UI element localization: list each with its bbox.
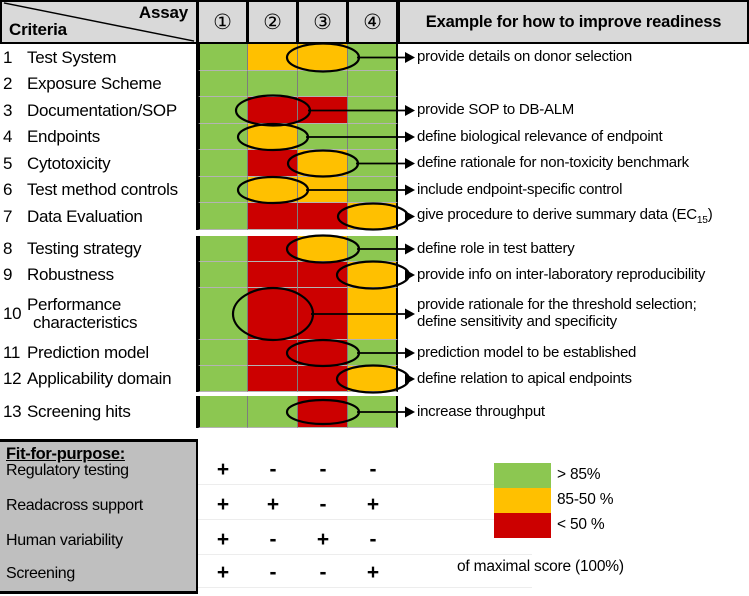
score-cell-r2-c3 [298, 71, 348, 97]
ffp-mark-r3-c3: + [298, 529, 348, 550]
score-cell-r13-c4 [348, 396, 398, 428]
criteria-cell-10: 10Performancecharacteristics [0, 288, 198, 340]
legend-swatch-orange [494, 488, 551, 513]
score-cell-r1-c3 [298, 44, 348, 71]
criteria-number: 4 [0, 127, 27, 147]
criteria-label: Test System [27, 49, 116, 67]
score-cell-r12-c3 [298, 366, 348, 392]
score-cell-r7-c3 [298, 203, 348, 230]
criteria-cell-8: 8Testing strategy [0, 236, 198, 262]
score-cell-r2-c1 [198, 71, 248, 97]
ffp-mark-r2-c3: - [298, 494, 348, 515]
criteria-cell-1: 1Test System [0, 44, 198, 71]
ffp-mark-r3-c4: - [348, 529, 398, 550]
ffp-separator-4 [198, 587, 532, 588]
score-cell-r5-c3 [298, 150, 348, 177]
score-cell-r8-c4 [348, 236, 398, 262]
score-cell-r4-c2 [248, 124, 298, 150]
score-cell-r10-c1 [198, 288, 248, 340]
example-cell-11: prediction model to be established [398, 340, 749, 366]
ffp-mark-r3-c2: - [248, 529, 298, 550]
criteria-label: Testing strategy [27, 240, 141, 258]
example-cell-5: define rationale for non-toxicity benchm… [398, 150, 749, 177]
example-cell-1: provide details on donor selection [398, 44, 749, 71]
score-cell-r11-c4 [348, 340, 398, 366]
legend-footer: of maximal score (100%) [457, 558, 624, 576]
ffp-row-label-1: Regulatory testing [6, 462, 129, 480]
score-cell-r6-c1 [198, 177, 248, 203]
ffp-separator-2 [198, 519, 532, 520]
score-cell-r9-c4 [348, 262, 398, 288]
criteria-cell-2: 2Exposure Scheme [0, 71, 198, 97]
example-cell-4: define biological relevance of endpoint [398, 124, 749, 150]
score-cell-r9-c3 [298, 262, 348, 288]
criteria-label: Screening hits [27, 403, 131, 421]
criteria-label: Performancecharacteristics [27, 296, 137, 332]
score-cell-r11-c2 [248, 340, 298, 366]
criteria-number: 8 [0, 239, 27, 259]
score-cell-r8-c2 [248, 236, 298, 262]
legend-label-green: > 85% [557, 466, 600, 484]
ffp-mark-r4-c4: + [348, 562, 398, 583]
legend-label-red: < 50 % [557, 516, 605, 534]
criteria-number: 2 [0, 74, 27, 94]
criteria-label: Documentation/SOP [27, 102, 177, 120]
score-cell-r4-c4 [348, 124, 398, 150]
criteria-number: 12 [0, 369, 27, 389]
score-cell-r13-c1 [198, 396, 248, 428]
criteria-label: Test method controls [27, 181, 178, 199]
score-cell-r4-c3 [298, 124, 348, 150]
criteria-number: 11 [0, 343, 27, 363]
ffp-mark-r3-c1: + [198, 529, 248, 550]
score-cell-r3-c3 [298, 97, 348, 124]
score-cell-r11-c3 [298, 340, 348, 366]
criteria-cell-12: 12Applicability domain [0, 366, 198, 392]
ffp-mark-r1-c1: + [198, 459, 248, 480]
ffp-mark-r4-c3: - [298, 562, 348, 583]
legend-label-orange: 85-50 % [557, 491, 613, 509]
criteria-cell-9: 9Robustness [0, 262, 198, 288]
criteria-label: Data Evaluation [27, 208, 143, 226]
score-cell-r6-c4 [348, 177, 398, 203]
score-cell-r9-c1 [198, 262, 248, 288]
criteria-number: 10 [0, 304, 27, 324]
criteria-label: Exposure Scheme [27, 75, 161, 93]
ffp-row-label-3: Human variability [6, 532, 123, 550]
score-cell-r1-c2 [248, 44, 298, 71]
criteria-label: Endpoints [27, 128, 100, 146]
criteria-number: 13 [0, 402, 27, 422]
legend-swatch-green [494, 463, 551, 488]
score-cell-r9-c2 [248, 262, 298, 288]
score-cell-r1-c1 [198, 44, 248, 71]
example-cell-8: define role in test battery [398, 236, 749, 262]
criteria-cell-5: 5Cytotoxicity [0, 150, 198, 177]
score-cell-r10-c4 [348, 288, 398, 340]
criteria-cell-11: 11Prediction model [0, 340, 198, 366]
score-cell-r1-c4 [348, 44, 398, 71]
ffp-separator-1 [198, 484, 532, 485]
criteria-number: 9 [0, 265, 27, 285]
criteria-label: Prediction model [27, 344, 149, 362]
ffp-mark-r1-c3: - [298, 459, 348, 480]
example-cell-12: define relation to apical endpoints [398, 366, 749, 392]
score-cell-r10-c2 [248, 288, 298, 340]
ffp-mark-r1-c4: - [348, 459, 398, 480]
ffp-mark-r4-c1: + [198, 562, 248, 583]
criteria-number: 7 [0, 207, 27, 227]
criteria-cell-4: 4Endpoints [0, 124, 198, 150]
score-cell-r5-c4 [348, 150, 398, 177]
score-cell-r3-c1 [198, 97, 248, 124]
criteria-number: 6 [0, 180, 27, 200]
example-cell-7: give procedure to derive summary data (E… [398, 203, 749, 230]
ffp-mark-r1-c2: - [248, 459, 298, 480]
score-cell-r8-c1 [198, 236, 248, 262]
ffp-separator-3 [198, 554, 532, 555]
criteria-table-body: 1Test Systemprovide details on donor sel… [0, 0, 749, 435]
score-cell-r3-c2 [248, 97, 298, 124]
score-cell-r4-c1 [198, 124, 248, 150]
score-cell-r6-c2 [248, 177, 298, 203]
criteria-number: 3 [0, 101, 27, 121]
score-cell-r2-c4 [348, 71, 398, 97]
score-cell-r12-c2 [248, 366, 298, 392]
criteria-label: Robustness [27, 266, 114, 284]
score-cell-r7-c4 [348, 203, 398, 230]
legend-swatch-red [494, 513, 551, 538]
score-cell-r3-c4 [348, 97, 398, 124]
criteria-cell-7: 7Data Evaluation [0, 203, 198, 230]
ffp-row-label-4: Screening [6, 565, 75, 583]
ffp-row-label-2: Readacross support [6, 497, 143, 515]
readiness-matrix-figure: Assay Criteria ① ② ③ ④ Example for how t… [0, 0, 749, 596]
score-cell-r12-c1 [198, 366, 248, 392]
ffp-mark-r2-c4: + [348, 494, 398, 515]
ffp-mark-r4-c2: - [248, 562, 298, 583]
example-cell-3: provide SOP to DB-ALM [398, 97, 749, 124]
score-cell-r12-c4 [348, 366, 398, 392]
example-cell-9: provide info on inter-laboratory reprodu… [398, 262, 749, 288]
example-cell-2 [398, 71, 749, 97]
score-cell-r8-c3 [298, 236, 348, 262]
score-cell-r5-c2 [248, 150, 298, 177]
criteria-cell-13: 13Screening hits [0, 396, 198, 428]
example-cell-13: increase throughput [398, 396, 749, 428]
ffp-mark-r2-c2: + [248, 494, 298, 515]
criteria-number: 5 [0, 154, 27, 174]
score-cell-r10-c3 [298, 288, 348, 340]
criteria-cell-3: 3Documentation/SOP [0, 97, 198, 124]
score-cell-r7-c2 [248, 203, 298, 230]
criteria-number: 1 [0, 48, 27, 68]
score-cell-r5-c1 [198, 150, 248, 177]
example-cell-10: provide rationale for the threshold sele… [398, 288, 749, 340]
score-cell-r7-c1 [198, 203, 248, 230]
criteria-label: Applicability domain [27, 370, 171, 388]
score-cell-r6-c3 [298, 177, 348, 203]
criteria-label: Cytotoxicity [27, 155, 110, 173]
score-cell-r13-c2 [248, 396, 298, 428]
score-cell-r13-c3 [298, 396, 348, 428]
example-cell-6: include endpoint-specific control [398, 177, 749, 203]
score-cell-r2-c2 [248, 71, 298, 97]
score-cell-r11-c1 [198, 340, 248, 366]
color-legend: > 85%85-50 %< 50 %of maximal score (100%… [494, 463, 749, 583]
criteria-cell-6: 6Test method controls [0, 177, 198, 203]
ffp-mark-r2-c1: + [198, 494, 248, 515]
